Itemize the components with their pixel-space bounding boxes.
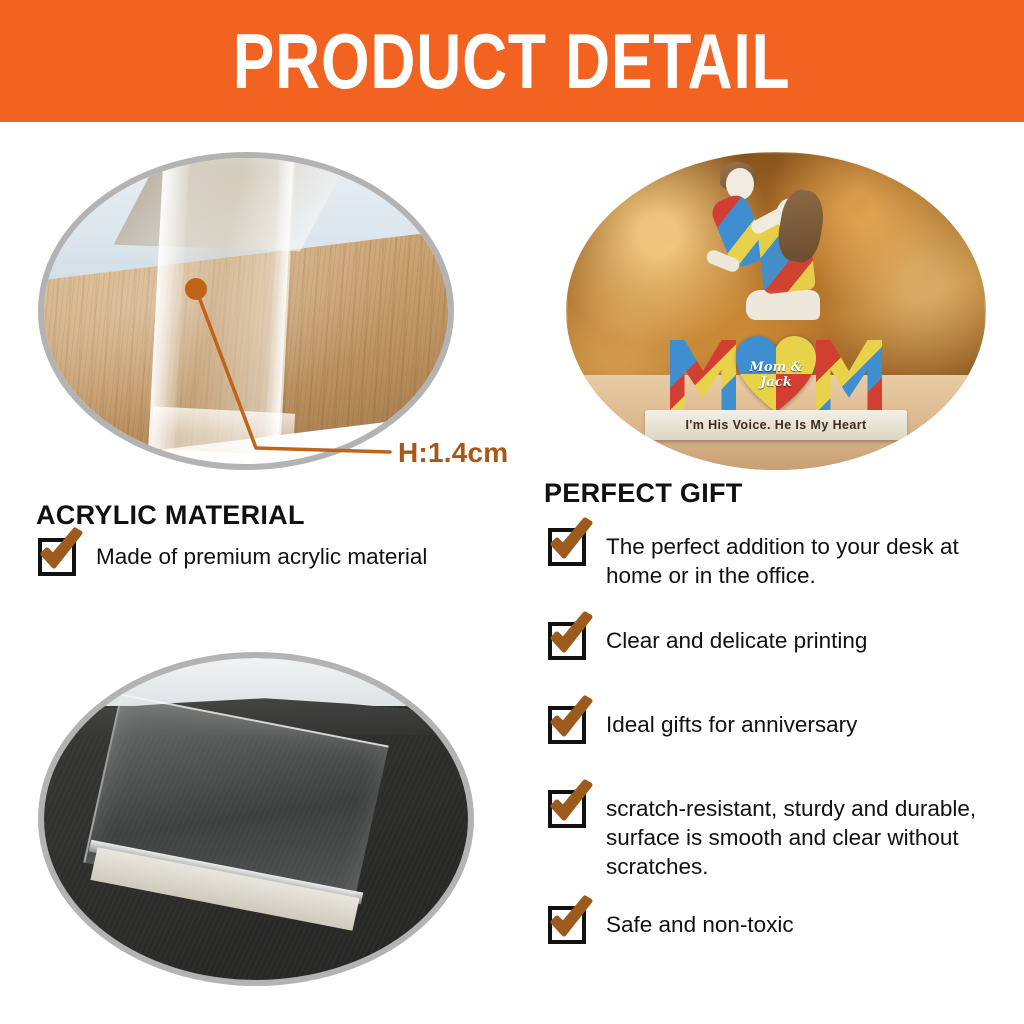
list-item: The perfect addition to your desk at hom… (548, 528, 1008, 591)
list-item: Made of premium acrylic material (38, 538, 538, 576)
page-header-banner: PRODUCT DETAIL (0, 0, 1024, 122)
checkbox-checked[interactable] (548, 622, 586, 660)
list-item: Clear and delicate printing (548, 622, 1008, 660)
list-item-label: Safe and non-toxic (586, 906, 794, 940)
mother-legs (746, 290, 820, 320)
list-item: scratch-resistant, sturdy and durable, s… (548, 790, 1008, 881)
check-icon (545, 696, 597, 744)
list-item-label: Made of premium acrylic material (76, 538, 427, 572)
checkbox-checked[interactable] (38, 538, 76, 576)
letter-m-left (670, 340, 736, 414)
list-item-label: Clear and delicate printing (586, 622, 867, 656)
mom-puzzle-letters: Mom & Jack (670, 334, 882, 414)
check-icon (35, 528, 87, 576)
wood-scene (44, 158, 448, 464)
checkbox-checked[interactable] (548, 706, 586, 744)
checkbox-checked[interactable] (548, 528, 586, 566)
check-icon (545, 896, 597, 944)
list-item: Ideal gifts for anniversary (548, 706, 1008, 744)
page-title: PRODUCT DETAIL (233, 22, 791, 100)
list-item-label: The perfect addition to your desk at hom… (586, 528, 1008, 591)
checkbox-checked[interactable] (548, 790, 586, 828)
check-icon (545, 518, 597, 566)
check-icon (545, 612, 597, 660)
mother-child-figurine (676, 162, 876, 332)
list-item-label: scratch-resistant, sturdy and durable, s… (586, 790, 1008, 881)
photo-acrylic-edge (38, 152, 454, 470)
acrylic-base-highlight (151, 406, 295, 459)
letter-m-right (816, 340, 882, 414)
check-icon (545, 780, 597, 828)
list-item: Safe and non-toxic (548, 906, 1008, 944)
mother-hair (774, 187, 828, 265)
height-callout-label: H:1.4cm (398, 437, 508, 469)
section-heading-acrylic: ACRYLIC MATERIAL (36, 500, 305, 531)
section-heading-gift: PERFECT GIFT (544, 478, 743, 509)
checkbox-checked[interactable] (548, 906, 586, 944)
figurine-base-plaque: I'm His Voice. He Is My Heart (645, 410, 907, 440)
letter-o-heart: Mom & Jack (734, 334, 818, 414)
photo-mom-figurine: Mom & Jack I'm His Voice. He Is My Heart (566, 152, 986, 470)
photo-acrylic-block (38, 652, 474, 986)
heart-name-text: Mom & Jack (734, 360, 818, 390)
list-item-label: Ideal gifts for anniversary (586, 706, 857, 740)
figurine-base-text: I'm His Voice. He Is My Heart (685, 418, 866, 432)
